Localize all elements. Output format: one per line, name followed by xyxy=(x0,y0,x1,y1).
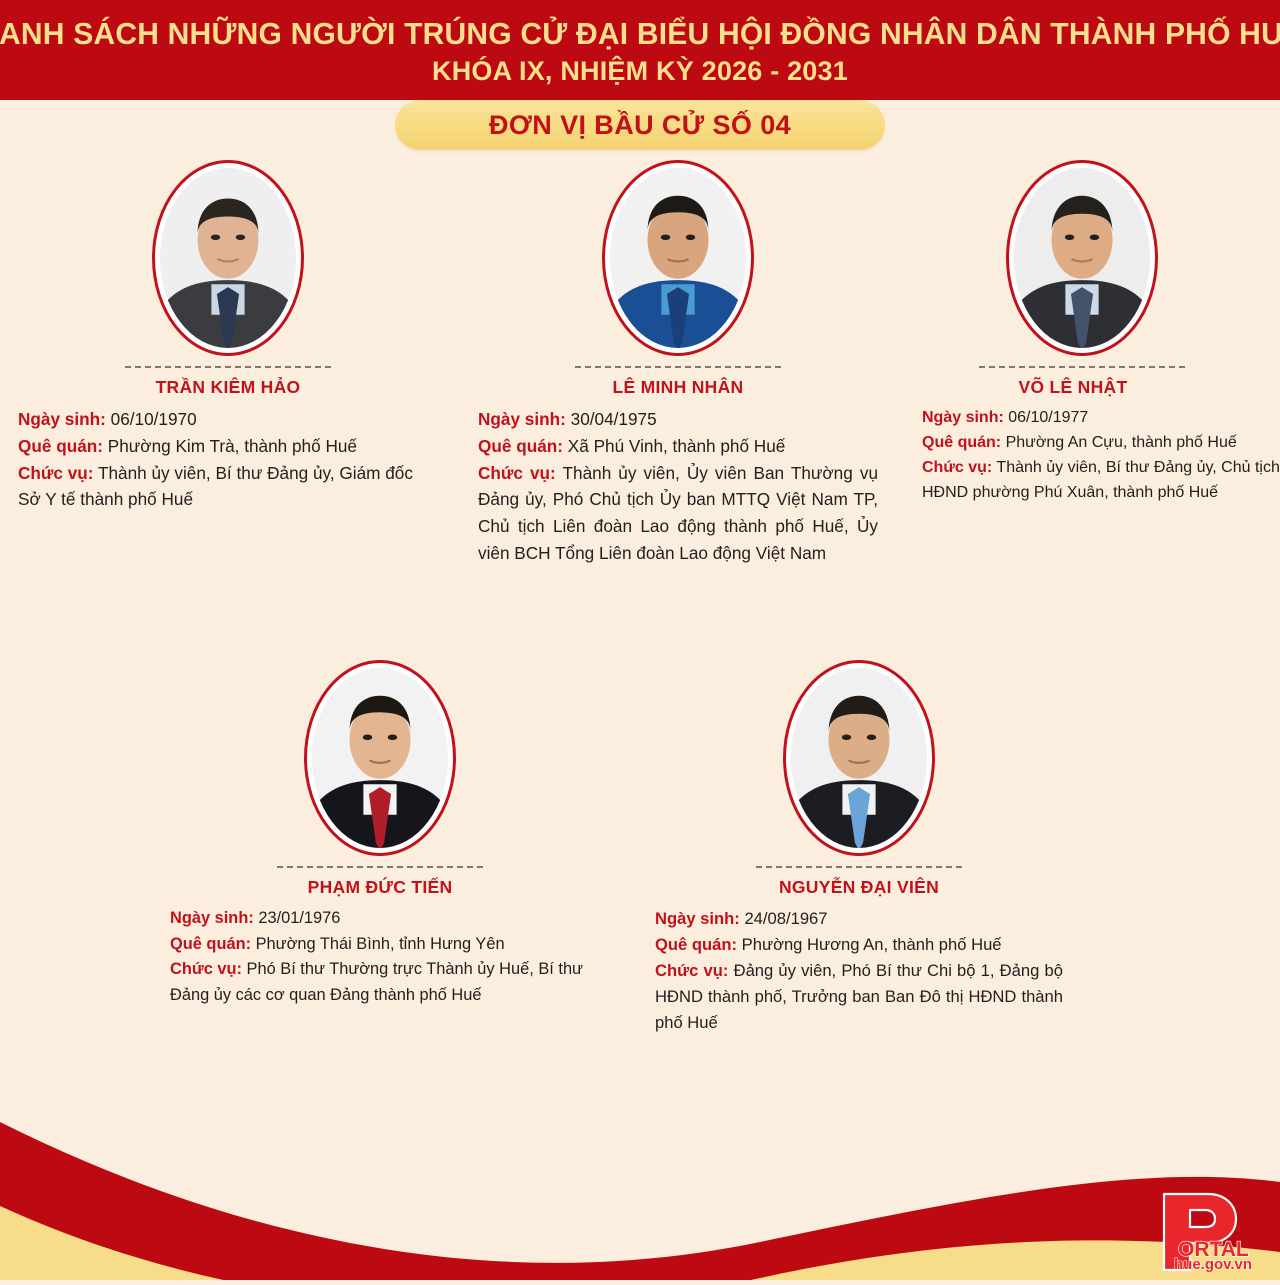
candidate-position-row: Chức vụ: Đảng ủy viên, Phó Bí thư Chi bộ… xyxy=(655,958,1063,1036)
candidate-card: LÊ MINH NHÂN Ngày sinh: 30/04/1975 Quê q… xyxy=(478,160,878,567)
candidate-details: Ngày sinh: 06/10/1977 Quê quán: Phường A… xyxy=(922,406,1280,506)
candidate-photo xyxy=(1006,160,1158,356)
candidates-row-2: PHẠM ĐỨC TIẾN Ngày sinh: 23/01/1976 Quê … xyxy=(0,660,1280,1080)
candidate-name: LÊ MINH NHÂN xyxy=(478,377,878,398)
dob-label: Ngày sinh: xyxy=(922,409,1004,426)
candidate-photo xyxy=(304,660,456,856)
position-label: Chức vụ: xyxy=(18,463,93,483)
candidate-dob-row: Ngày sinh: 30/04/1975 xyxy=(478,406,878,433)
hometown-label: Quê quán: xyxy=(478,436,563,456)
hometown-label: Quê quán: xyxy=(922,434,1001,451)
page-title-line-2: KHÓA IX, NHIỆM KỲ 2026 - 2031 xyxy=(432,56,848,87)
dob-value: 06/10/1977 xyxy=(1008,409,1088,426)
candidate-dob-row: Ngày sinh: 24/08/1967 xyxy=(655,906,1063,932)
photo-ring xyxy=(1006,160,1158,356)
hometown-label: Quê quán: xyxy=(170,935,251,953)
dob-value: 24/08/1967 xyxy=(744,909,827,928)
candidate-photo xyxy=(152,160,304,356)
position-label: Chức vụ: xyxy=(922,459,992,476)
candidate-card: NGUYỄN ĐẠI VIÊN Ngày sinh: 24/08/1967 Qu… xyxy=(655,660,1063,1035)
candidates-row-1: TRẦN KIÊM HẢO Ngày sinh: 06/10/1970 Quê … xyxy=(0,160,1280,660)
candidate-position-row: Chức vụ: Phó Bí thư Thường trực Thành ủy… xyxy=(170,957,590,1008)
candidate-card: VÕ LÊ NHẬT Ngày sinh: 06/10/1977 Quê quá… xyxy=(922,160,1280,506)
card-divider xyxy=(125,366,331,368)
candidate-details: Ngày sinh: 24/08/1967 Quê quán: Phường H… xyxy=(655,906,1063,1035)
candidate-position-row: Chức vụ: Thành ủy viên, Ủy viên Ban Thườ… xyxy=(478,460,878,567)
candidate-name: VÕ LÊ NHẬT xyxy=(866,377,1280,398)
dob-label: Ngày sinh: xyxy=(170,909,254,927)
candidate-hometown-row: Quê quán: Phường Hương An, thành phố Huế xyxy=(655,932,1063,958)
hometown-value: Xã Phú Vinh, thành phố Huế xyxy=(568,436,786,456)
dob-value: 30/04/1975 xyxy=(571,409,657,429)
electoral-unit-badge: ĐƠN VỊ BẦU CỬ SỐ 04 xyxy=(395,100,885,150)
candidate-hometown-row: Quê quán: Phường An Cựu, thành phố Huế xyxy=(922,431,1280,456)
hometown-value: Phường Thái Bình, tỉnh Hưng Yên xyxy=(256,935,505,953)
candidate-card: PHẠM ĐỨC TIẾN Ngày sinh: 23/01/1976 Quê … xyxy=(170,660,590,1008)
candidate-details: Ngày sinh: 30/04/1975 Quê quán: Xã Phú V… xyxy=(478,406,878,567)
photo-image xyxy=(610,168,746,348)
candidate-dob-row: Ngày sinh: 06/10/1977 xyxy=(922,406,1280,431)
position-label: Chức vụ: xyxy=(478,463,556,483)
logo-sub-text: hue.gov.vn xyxy=(1174,1256,1252,1272)
hometown-label: Quê quán: xyxy=(655,935,737,954)
candidate-hometown-row: Quê quán: Xã Phú Vinh, thành phố Huế xyxy=(478,433,878,460)
candidates-grid: TRẦN KIÊM HẢO Ngày sinh: 06/10/1970 Quê … xyxy=(0,160,1280,1080)
electoral-unit-label: ĐƠN VỊ BẦU CỬ SỐ 04 xyxy=(489,110,791,141)
card-divider xyxy=(756,866,962,868)
candidate-card: TRẦN KIÊM HẢO Ngày sinh: 06/10/1970 Quê … xyxy=(18,160,438,513)
hometown-value: Phường Hương An, thành phố Huế xyxy=(742,935,1002,954)
position-label: Chức vụ: xyxy=(170,960,242,978)
candidate-dob-row: Ngày sinh: 23/01/1976 xyxy=(170,906,590,932)
photo-image xyxy=(312,668,448,848)
hometown-value: Phường Kim Trà, thành phố Huế xyxy=(108,436,357,456)
candidate-dob-row: Ngày sinh: 06/10/1970 xyxy=(18,406,438,433)
dob-value: 06/10/1970 xyxy=(111,409,197,429)
candidate-photo xyxy=(783,660,935,856)
candidate-position-row: Chức vụ: Thành ủy viên, Bí thư Đảng ủy, … xyxy=(18,460,438,514)
candidate-details: Ngày sinh: 23/01/1976 Quê quán: Phường T… xyxy=(170,906,590,1008)
portal-logo[interactable]: ORTAL hue.gov.vn xyxy=(1144,1186,1264,1272)
photo-ring xyxy=(602,160,754,356)
position-label: Chức vụ: xyxy=(655,961,728,980)
dob-label: Ngày sinh: xyxy=(478,409,566,429)
candidate-name: NGUYỄN ĐẠI VIÊN xyxy=(655,877,1063,898)
dob-label: Ngày sinh: xyxy=(18,409,106,429)
photo-image xyxy=(160,168,296,348)
card-divider xyxy=(979,366,1185,368)
photo-image xyxy=(1014,168,1150,348)
candidate-name: TRẦN KIÊM HẢO xyxy=(18,377,438,398)
candidate-photo xyxy=(602,160,754,356)
candidate-details: Ngày sinh: 06/10/1970 Quê quán: Phường K… xyxy=(18,406,438,513)
candidate-hometown-row: Quê quán: Phường Kim Trà, thành phố Huế xyxy=(18,433,438,460)
candidate-hometown-row: Quê quán: Phường Thái Bình, tỉnh Hưng Yê… xyxy=(170,932,590,958)
card-divider xyxy=(277,866,483,868)
candidate-position-row: Chức vụ: Thành ủy viên, Bí thư Đảng ủy, … xyxy=(922,456,1280,506)
candidate-name: PHẠM ĐỨC TIẾN xyxy=(170,877,590,898)
hometown-label: Quê quán: xyxy=(18,436,103,456)
bottom-wave-decoration xyxy=(0,1120,1280,1280)
photo-ring xyxy=(304,660,456,856)
page-header: DANH SÁCH NHỮNG NGƯỜI TRÚNG CỬ ĐẠI BIỂU … xyxy=(0,0,1280,100)
dob-value: 23/01/1976 xyxy=(258,909,340,927)
photo-image xyxy=(791,668,927,848)
hometown-value: Phường An Cựu, thành phố Huế xyxy=(1006,434,1237,451)
dob-label: Ngày sinh: xyxy=(655,909,740,928)
photo-ring xyxy=(152,160,304,356)
page-title-line-1: DANH SÁCH NHỮNG NGƯỜI TRÚNG CỬ ĐẠI BIỂU … xyxy=(0,17,1280,52)
photo-ring xyxy=(783,660,935,856)
card-divider xyxy=(575,366,781,368)
